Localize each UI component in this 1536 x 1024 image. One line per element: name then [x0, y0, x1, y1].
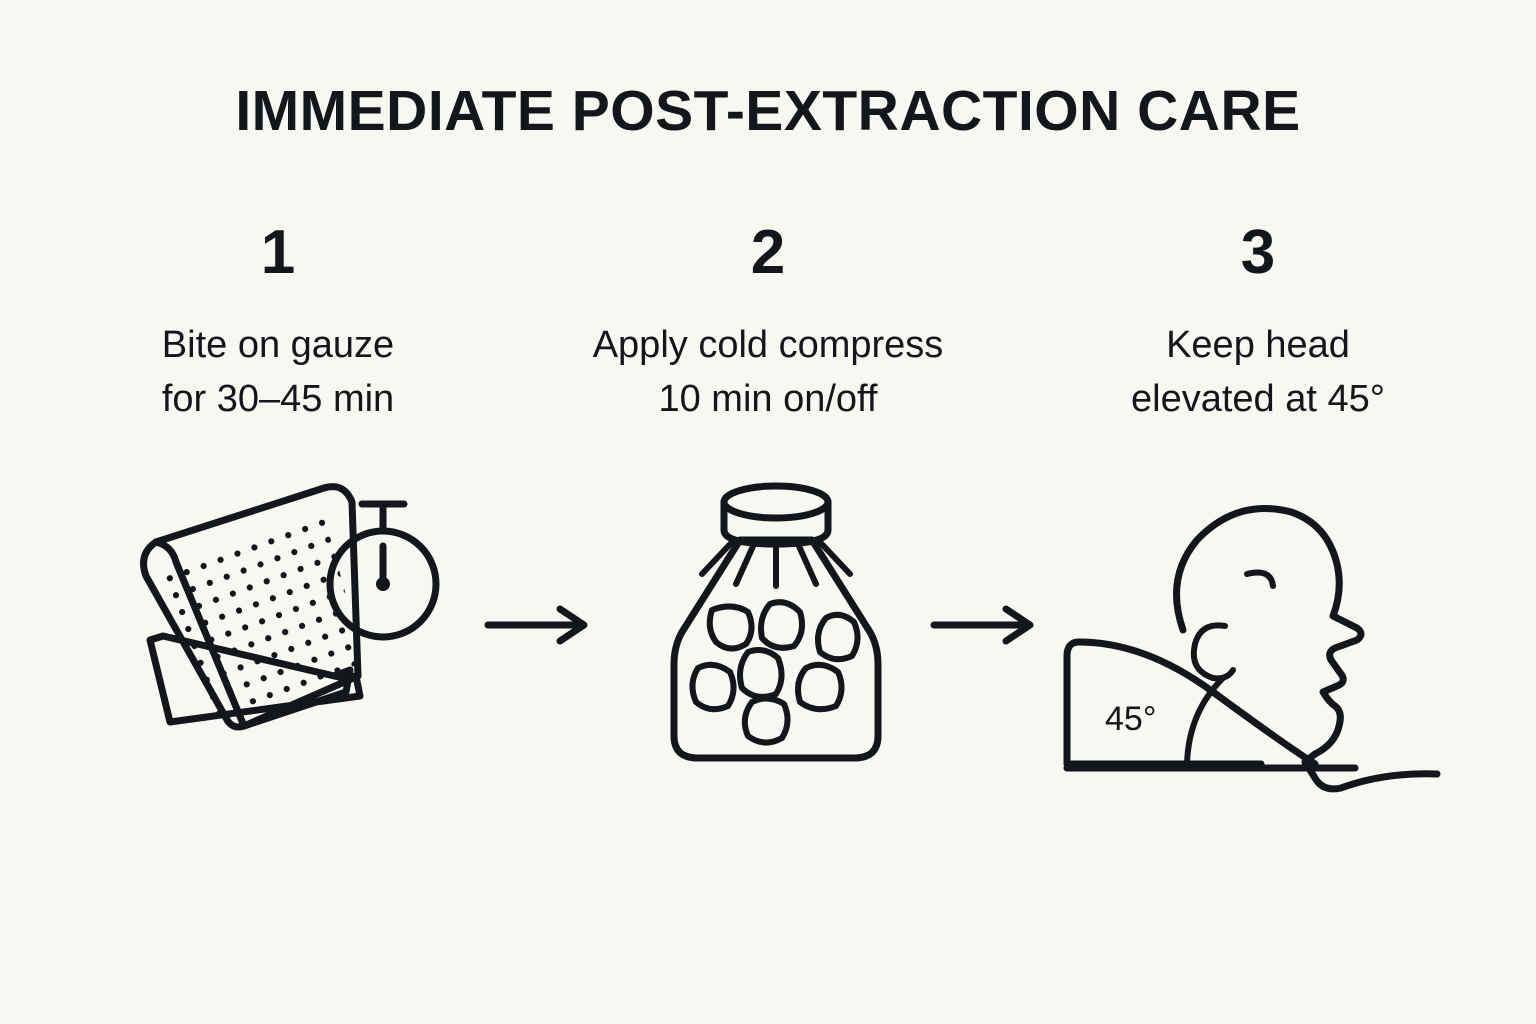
step-column-1: 1 Bite on gauze for 30–45 min	[33, 222, 523, 427]
jar-rim	[724, 486, 828, 518]
infographic-canvas: IMMEDIATE POST-EXTRACTION CARE 1 Bite on…	[0, 0, 1536, 1024]
pillow-angle-label: 45°	[1105, 700, 1156, 738]
gauze-left-roll	[144, 542, 350, 727]
step-number-2: 2	[751, 222, 785, 284]
ice-cube	[818, 615, 858, 659]
ice-cubes-group	[692, 602, 857, 742]
ice-cube	[745, 698, 788, 742]
head-face-profile	[1177, 509, 1361, 763]
ice-cube	[761, 602, 802, 648]
step-caption-2-line1: Apply cold compress	[593, 318, 944, 372]
step-column-3: 3 Keep head elevated at 45°	[1013, 222, 1503, 427]
ear-icon	[1194, 625, 1233, 678]
ice-cube	[798, 665, 842, 709]
step-number-3: 3	[1241, 222, 1275, 284]
arrow-step1-to-step2	[486, 605, 596, 645]
ice-pack-jar-icon	[662, 482, 890, 772]
ice-cube	[692, 665, 733, 709]
arrow-step2-to-step3	[932, 605, 1042, 645]
stopwatch-icon	[330, 504, 436, 637]
step-caption-3-line1: Keep head	[1166, 318, 1350, 372]
gauze-and-stopwatch-icon	[128, 480, 458, 770]
ice-cube	[740, 650, 782, 697]
page-title: IMMEDIATE POST-EXTRACTION CARE	[0, 82, 1536, 142]
step-caption-3-line2: elevated at 45°	[1131, 372, 1385, 426]
step-caption-1-line2: for 30–45 min	[162, 372, 394, 426]
gauze-fold-band	[150, 636, 360, 722]
icons-row: 45°	[0, 470, 1536, 830]
steps-text-row: 1 Bite on gauze for 30–45 min 2 Apply co…	[0, 222, 1536, 427]
ice-cube	[710, 606, 752, 648]
step-number-1: 1	[261, 222, 295, 284]
step-caption-1-line1: Bite on gauze	[162, 318, 394, 372]
step-caption-2-line2: 10 min on/off	[658, 372, 877, 426]
step-column-2: 2 Apply cold compress 10 min on/off	[523, 222, 1013, 427]
stopwatch-center-dot	[376, 577, 390, 591]
head-elevated-on-wedge-pillow-icon: 45°	[1065, 482, 1445, 782]
closed-eye	[1247, 573, 1273, 587]
